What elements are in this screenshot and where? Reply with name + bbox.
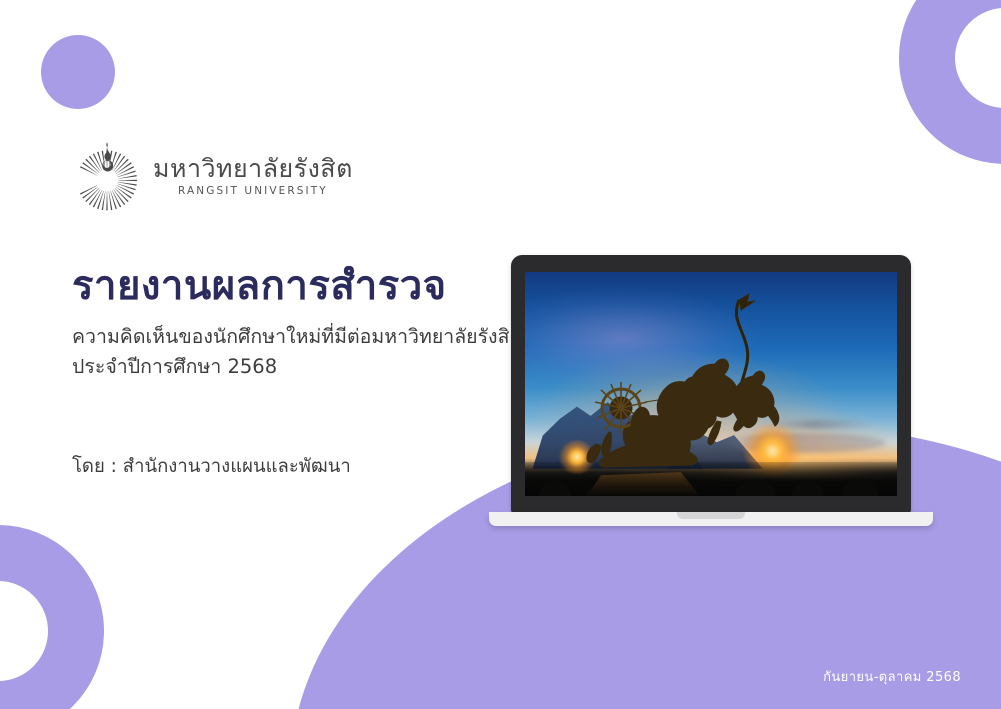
- logo-thai-name: มหาวิทยาลัยรังสิต: [153, 156, 353, 181]
- university-logo: มหาวิทยาลัยรังสิต RANGSIT UNIVERSITY: [70, 138, 353, 214]
- subtitle-line-2: ประจำปีการศึกษา 2568: [72, 352, 522, 382]
- byline: โดย : สำนักงานวางแผนและพัฒนา: [72, 452, 351, 481]
- laptop-base-notch: [677, 512, 745, 519]
- ring-top-right-decoration: [899, 0, 1001, 164]
- circle-top-left-decoration: [41, 35, 115, 109]
- ring-bottom-left-decoration: [0, 525, 104, 709]
- logo-wordmark: มหาวิทยาลัยรังสิต RANGSIT UNIVERSITY: [153, 156, 353, 197]
- subtitle-line-1: ความคิดเห็นของนักศึกษาใหม่ที่มีต่อมหาวิท…: [72, 322, 522, 352]
- laptop-lid: [511, 255, 911, 513]
- presentation-cover-slide: มหาวิทยาลัยรังสิต RANGSIT UNIVERSITY ราย…: [0, 0, 1001, 709]
- page-subtitle: ความคิดเห็นของนักศึกษาใหม่ที่มีต่อมหาวิท…: [72, 322, 522, 382]
- laptop-mockup: [511, 255, 911, 530]
- logo-english-name: RANGSIT UNIVERSITY: [153, 186, 353, 197]
- laptop-screen: [525, 272, 897, 496]
- rangsit-sunburst-flame-icon: [70, 138, 144, 214]
- golden-chariot-statue-silhouette: [525, 272, 897, 496]
- page-title: รายงานผลการสำรวจ: [72, 253, 447, 317]
- footer-date-range: กันยายน-ตุลาคม 2568: [823, 666, 961, 687]
